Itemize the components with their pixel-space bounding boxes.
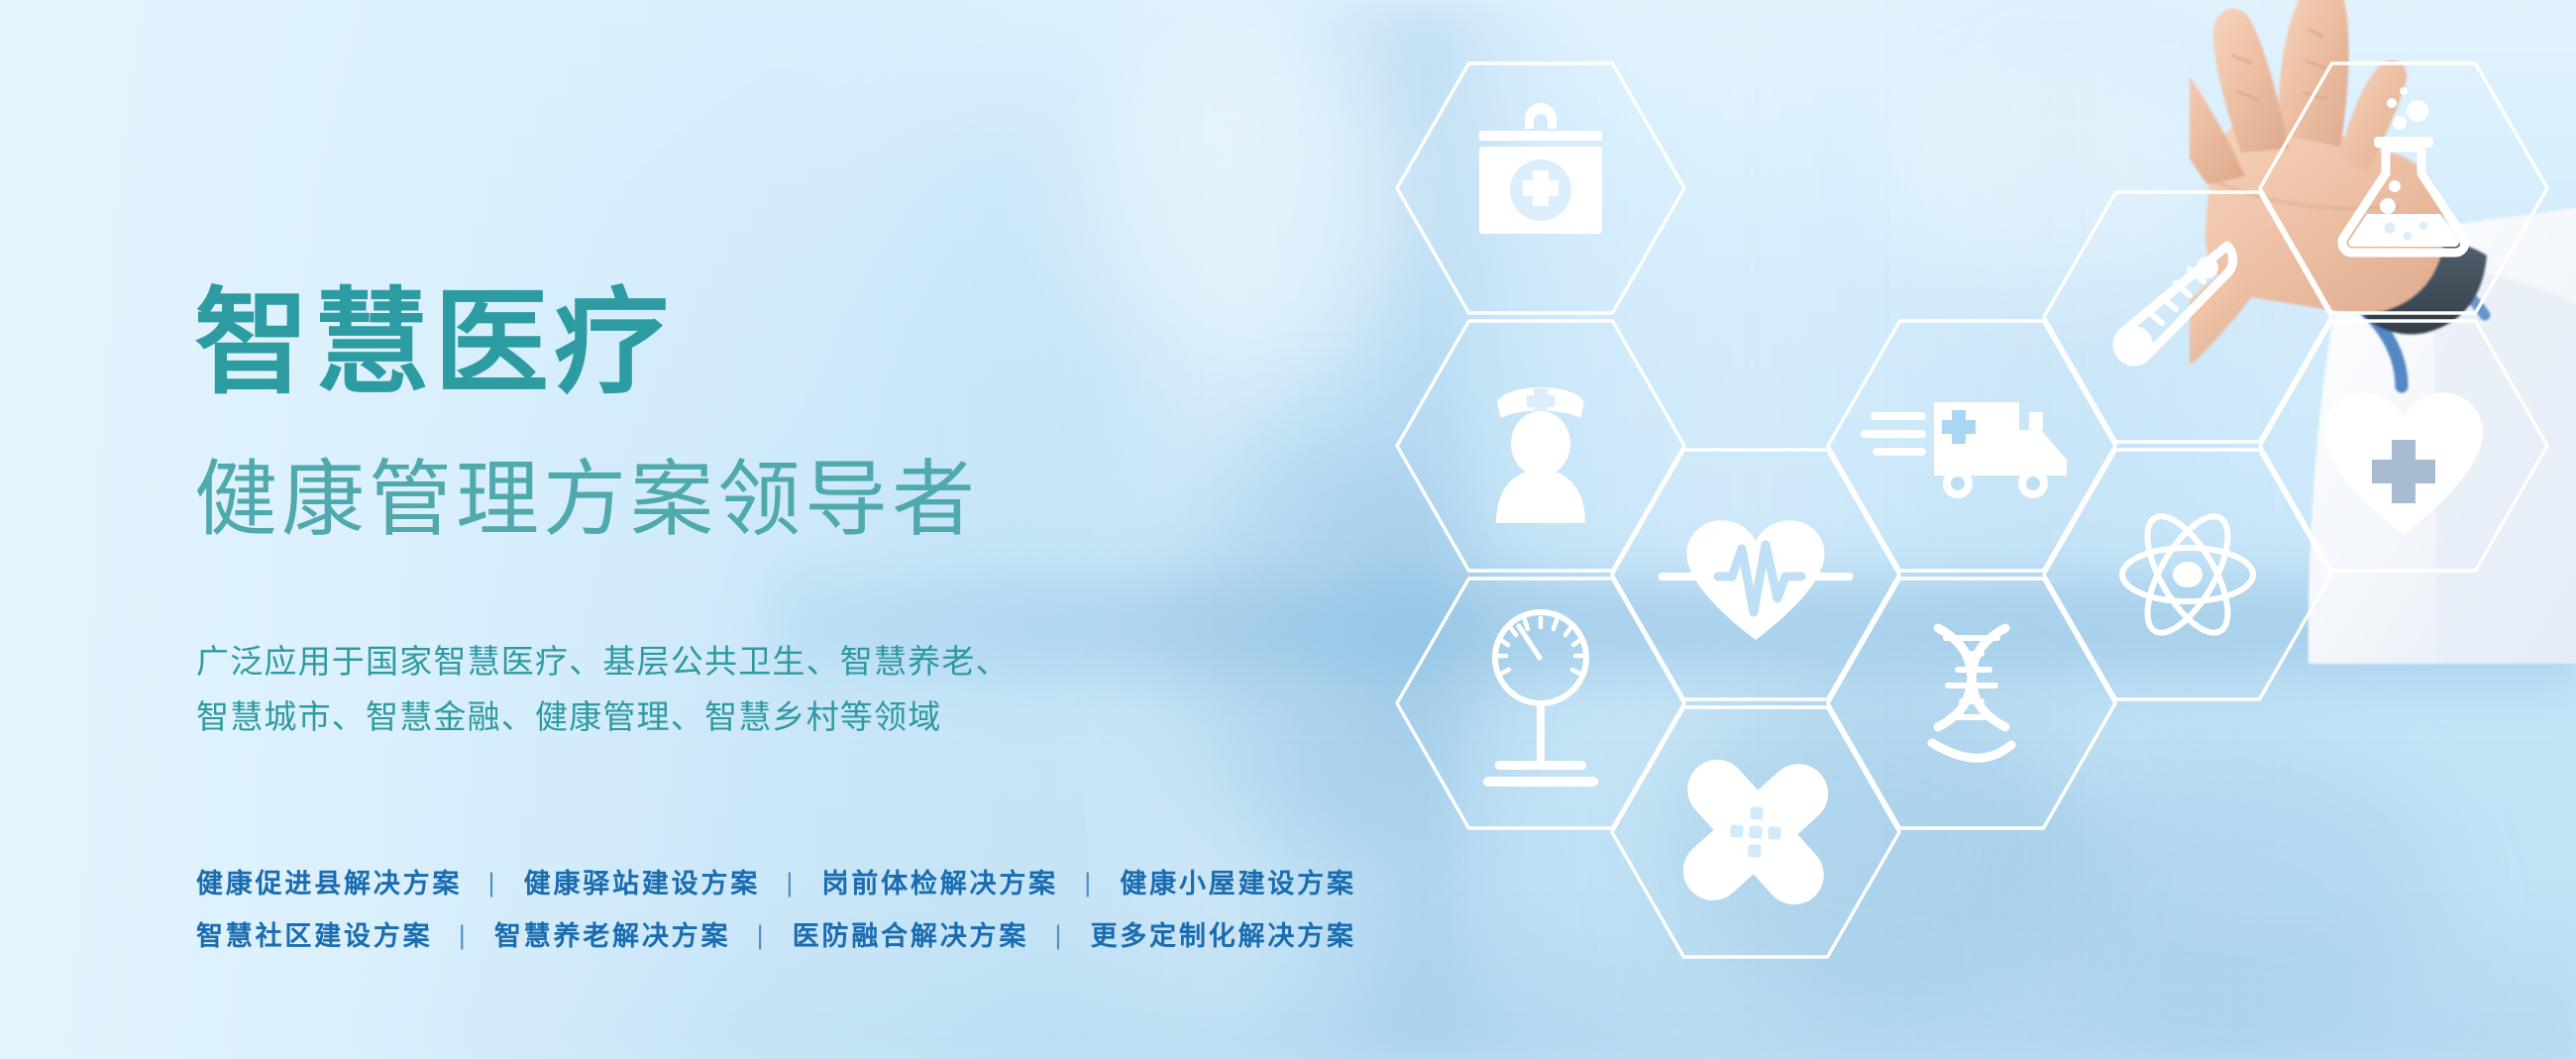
solution-link-health-cabin[interactable]: 健康小屋建设方案	[1120, 869, 1355, 899]
link-separator: |	[770, 857, 811, 909]
solution-link-smart-elderly-care[interactable]: 智慧养老解决方案	[494, 921, 730, 951]
link-separator: |	[1038, 909, 1080, 962]
solution-links-row-1: 健康促进县解决方案 | 健康驿站建设方案 | 岗前体检解决方案 | 健康小屋建设…	[196, 858, 1356, 910]
solution-link-health-promotion-county[interactable]: 健康促进县解决方案	[196, 869, 462, 899]
page-subtitle: 健康管理方案领导者	[194, 458, 979, 541]
smart-healthcare-banner: 智慧医疗 健康管理方案领导者 广泛应用于国家智慧医疗、基层公共卫生、智慧养老、 …	[0, 0, 2576, 1059]
link-separator: |	[473, 857, 514, 909]
description-block: 广泛应用于国家智慧医疗、基层公共卫生、智慧养老、 智慧城市、智慧金融、健康管理、…	[196, 634, 1010, 745]
description-line-2: 智慧城市、智慧金融、健康管理、智慧乡村等领域	[196, 689, 1010, 745]
solution-link-smart-community[interactable]: 智慧社区建设方案	[196, 921, 432, 951]
solution-links: 健康促进县解决方案 | 健康驿站建设方案 | 岗前体检解决方案 | 健康小屋建设…	[196, 858, 1356, 963]
solution-link-more-custom[interactable]: 更多定制化解决方案	[1091, 921, 1356, 951]
solution-links-row-2: 智慧社区建设方案 | 智慧养老解决方案 | 医防融合解决方案 | 更多定制化解决…	[196, 910, 1356, 963]
page-title: 智慧医疗	[194, 285, 674, 400]
solution-link-pre-job-checkup[interactable]: 岗前体检解决方案	[822, 869, 1058, 899]
link-separator: |	[443, 909, 484, 962]
link-separator: |	[741, 909, 783, 962]
link-separator: |	[1068, 857, 1110, 909]
solution-link-medical-prevention-integration[interactable]: 医防融合解决方案	[793, 921, 1028, 951]
banner-copy: 智慧医疗 健康管理方案领导者 广泛应用于国家智慧医疗、基层公共卫生、智慧养老、 …	[194, 0, 1433, 1059]
solution-link-health-station[interactable]: 健康驿站建设方案	[524, 869, 760, 899]
description-line-1: 广泛应用于国家智慧医疗、基层公共卫生、智慧养老、	[196, 634, 1010, 689]
